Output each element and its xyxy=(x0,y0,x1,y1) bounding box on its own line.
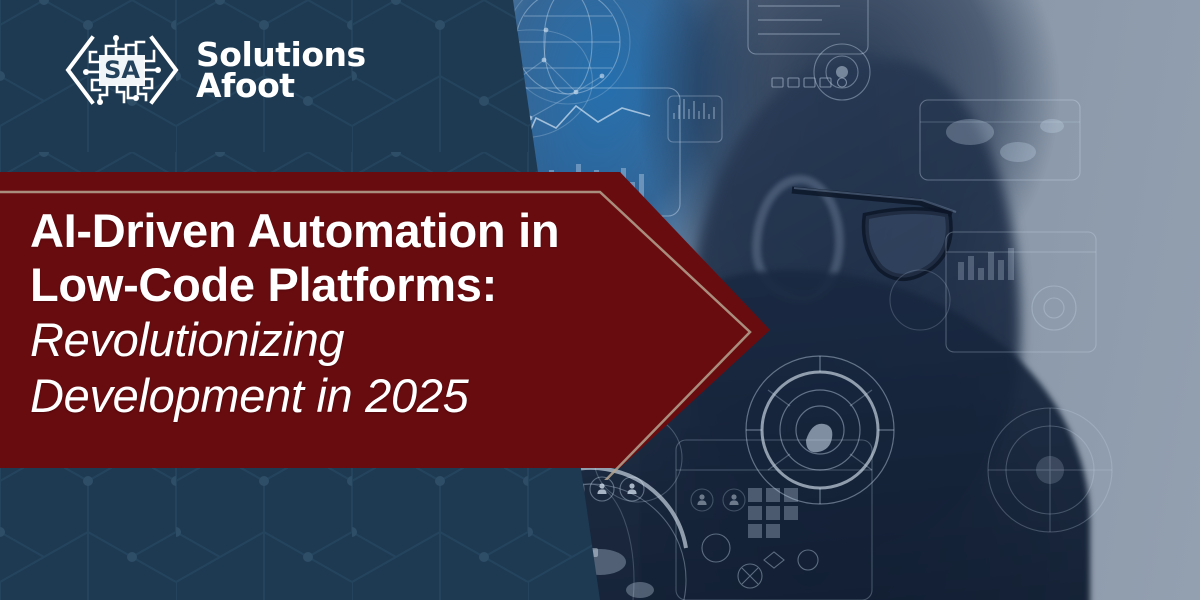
circuit-chip-icon: SA xyxy=(62,30,182,110)
brand-wordmark: Solutions Afoot xyxy=(196,39,366,101)
title-line-2-text: Low-Code Platforms xyxy=(30,258,482,311)
bracket-left-icon xyxy=(68,38,92,102)
brand-name-line2: Afoot xyxy=(196,70,366,101)
title-text-block: AI-Driven Automation in Low-Code Platfor… xyxy=(30,204,630,424)
logo-monogram: SA xyxy=(104,56,140,84)
subtitle-line-2: Development in 2025 xyxy=(30,368,630,424)
title-line-1: AI-Driven Automation in xyxy=(30,204,630,258)
title-banner: AI-Driven Automation in Low-Code Platfor… xyxy=(0,160,800,480)
brand-logo[interactable]: SA Solutions Afoot xyxy=(62,30,366,110)
hero-banner: SA Solutions Afoot AI-Driven Automation … xyxy=(0,0,1200,600)
title-line-2: Low-Code Platforms: xyxy=(30,258,630,312)
title-colon: : xyxy=(482,258,497,311)
subtitle-line-1: Revolutionizing xyxy=(30,312,630,368)
